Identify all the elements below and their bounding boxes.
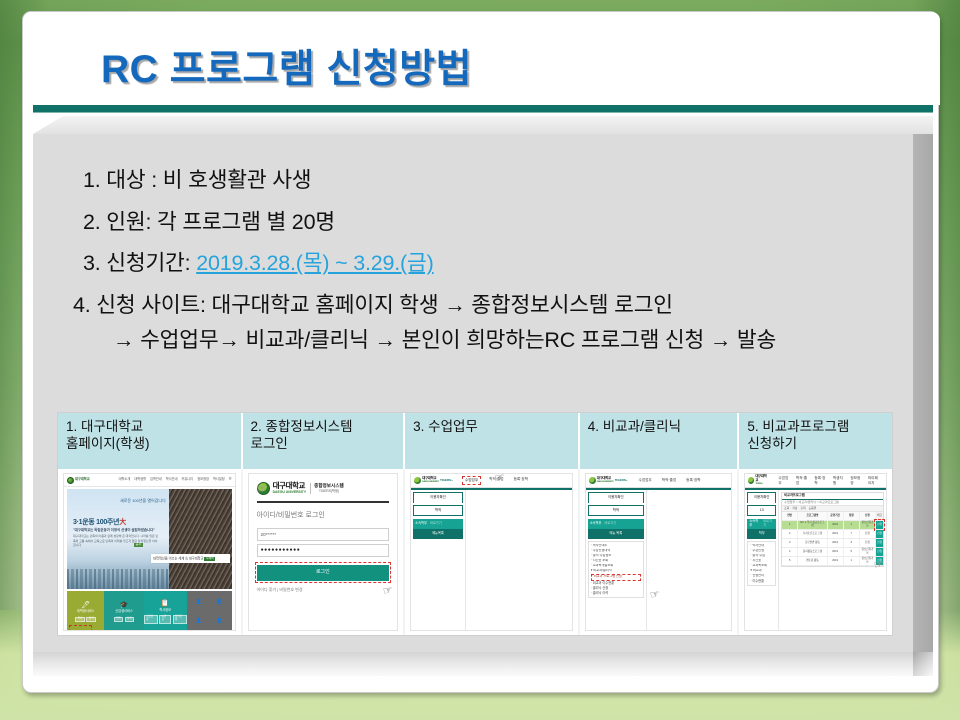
step-cell-class-tasks: 대구대학교 DAEGU UNIVERSITY TIGERS+ 수업업무 학적·졸…: [405, 469, 580, 635]
tree-item-program-apply[interactable]: · 비교과 프로그램 신청: [591, 574, 641, 581]
step-header-2: 2. 종합정보시스템 로그인: [243, 413, 406, 469]
university-emblem-icon: [748, 477, 754, 484]
cell-start: 2019: [828, 521, 844, 529]
login-password-value: ●●●●●●●●●●●: [261, 548, 301, 554]
portal-frame: 대구대학교 DAEGU UNIVERSITY TIGERS+ 수업업무 학적·졸…: [411, 474, 572, 630]
hero-subtitle: "대구대학교는 독립운동가 이영식 선생이 설립하였습니다": [73, 529, 159, 533]
hand-cursor-icon-secondary: ☞: [383, 585, 394, 597]
portal-frame: 대구대학교 DAEGU UNIVERSITY TIGERS+ 수업업무 학적·졸…: [586, 474, 732, 630]
login-university-name: 대구대학교 DAEGU UNIVERSITY: [273, 482, 307, 495]
login-id-value: 20******: [261, 532, 277, 537]
tile-chip[interactable]: 수강신청: [144, 615, 158, 624]
content-panel-wrapper: 1. 대상 : 비 호생활관 사생 2. 인원: 각 프로그램 별 20명 3.…: [33, 116, 933, 684]
portal-tab[interactable]: 등록·장학: [812, 475, 827, 485]
portal-sidebar: 이용자확인 학적 소속학부 바로가기 메뉴 목록: [586, 490, 647, 630]
toolbar-button[interactable]: 조회: [784, 507, 789, 510]
sidebar-menu-list-button[interactable]: 메뉴목록: [413, 529, 463, 539]
step-header-5: 5. 비교과프로그램 신청하기: [739, 413, 892, 469]
nav-item[interactable]: 커뮤니티: [182, 478, 194, 482]
steps-header-row: 1. 대구대학교 홈페이지(학생) 2. 종합정보시스템 로그인 3. 수업업무…: [58, 413, 892, 469]
hero-notice-tag: 공지: [134, 543, 143, 547]
cell-start: 2019: [828, 539, 844, 547]
portal-tab[interactable]: 정보광장: [848, 475, 863, 485]
hero-more-button[interactable]: 자세히: [204, 557, 215, 561]
quicklink-tile-4[interactable]: 👤 👤 👤 👤: [187, 591, 232, 631]
quicklink-tile-2[interactable]: 🎓 신입생서비스 입학 등록: [104, 591, 143, 631]
bullet-item-1: 1. 대상 : 비 호생활관 사생: [51, 170, 907, 192]
portal-content-area: [647, 490, 731, 630]
portal-tab-registration[interactable]: 등록·장학: [684, 477, 702, 483]
hero-text-block: 3·1운동 100주년大 "대구대학교는 독립운동가 이영식 선생이 설립하였습…: [73, 519, 159, 548]
slide-canvas: RC 프로그램 신청방법 1. 대상 : 비 호생활관 사생 2. 인원: 각 …: [0, 0, 960, 720]
portal-tab[interactable]: 학적·졸업: [794, 475, 809, 485]
title-area: RC 프로그램 신청방법: [23, 12, 940, 105]
bullet-list: 1. 대상 : 비 호생활관 사생 2. 인원: 각 프로그램 별 20명 3.…: [51, 170, 907, 352]
row-apply-button[interactable]: 신청: [876, 521, 883, 529]
sidebar-card-user[interactable]: 이용자확인: [588, 492, 644, 503]
tile-label: 신입생서비스: [115, 610, 133, 614]
step-cell-apply: 대구대학교 TIGERS+ 수업업무 학적·졸업 등록·장학: [739, 469, 892, 635]
portal-sidebar: 이용자확인 13 소속학부 바로가기 학부: [745, 490, 779, 630]
sidebar-card-user[interactable]: 이용자확인: [747, 492, 776, 503]
step-header-1: 1. 대구대학교 홈페이지(학생): [58, 413, 243, 469]
clipboard-icon: 📋: [161, 600, 170, 607]
portal-tab-registration[interactable]: 등록·장학: [512, 476, 530, 484]
step-cell-extracurricular: 대구대학교 DAEGU UNIVERSITY TIGERS+ 수업업무 학적·졸…: [580, 469, 740, 635]
content-toolbar: 조회 저장 출력 도움말: [782, 505, 883, 512]
cell-name: 글로벌존 활동: [798, 539, 827, 547]
screenshot-login-page: 대구대학교 DAEGU UNIVERSITY 종합정보시스템 TIGERS(학생…: [248, 473, 399, 631]
sidebar-dept-bar: 소속학부 바로가기: [588, 519, 644, 529]
tile-chip[interactable]: 시간표: [159, 615, 171, 624]
highlight-box-login-button: 로그인: [255, 562, 392, 583]
portal-brand-tag: TIGERS+: [440, 479, 453, 482]
data-table-header: 연번 프로그램명 운영기간 정원 신청 비고: [782, 512, 883, 521]
hand-cursor-icon: ☞: [873, 559, 884, 571]
tile-chip[interactable]: 입학: [114, 617, 124, 623]
col-header-period: 운영기간: [828, 512, 844, 520]
portal-frame: 대구대학교 TIGERS+ 수업업무 학적·졸업 등록·장학: [745, 474, 886, 630]
hand-cursor-icon: ☞: [256, 483, 267, 495]
tile-chips: 입학 등록: [114, 617, 135, 623]
row-apply-button[interactable]: 신청: [876, 530, 883, 538]
cell-no: 2: [782, 530, 798, 538]
cell-start: 2019: [828, 548, 844, 556]
hero-crowd-photo: [169, 489, 232, 589]
hero-korean-script: 새로운 100년을 열어갑니다: [120, 498, 166, 503]
sidebar-menu-list-button[interactable]: 메뉴 목록: [588, 529, 644, 539]
nav-item[interactable]: 입학안내: [150, 478, 162, 482]
login-password-input[interactable]: ●●●●●●●●●●●: [257, 544, 390, 557]
cell-cap: 7: [844, 530, 860, 538]
portal-tab-class-tasks[interactable]: 수업업무: [637, 477, 654, 483]
panel-corner-chamfer: [33, 116, 63, 134]
bullet-item-4: 4. 신청 사이트: 대구대학교 홈페이지 학생 → 종합정보시스템 로그인: [51, 295, 907, 317]
tile-label: 재학생서비스: [77, 610, 95, 614]
cell-start: 2019: [828, 530, 844, 538]
university-emblem-icon: [589, 477, 596, 484]
content-panel: 1. 대상 : 비 호생활관 사생 2. 인원: 각 프로그램 별 20명 3.…: [33, 134, 913, 652]
title-divider: [33, 105, 933, 113]
screenshot-program-apply-table: 대구대학교 TIGERS+ 수업업무 학적·졸업 등록·장학: [744, 473, 887, 631]
hand-cursor-icon: ☞: [494, 473, 505, 485]
login-system-sub: TIGERS(학생): [314, 489, 344, 493]
cell-name: RC 1 학기 정규프로그램: [798, 521, 827, 529]
table-row[interactable]: 1 RC 1 학기 정규프로그램 2019 1 정보신청가능 신청: [782, 521, 883, 530]
hero-mark: 大: [119, 519, 126, 526]
steps-table: 1. 대구대학교 홈페이지(학생) 2. 종합정보시스템 로그인 3. 수업업무…: [57, 412, 893, 636]
cell-state: 신청: [860, 539, 876, 547]
portal-brand: 대구대학교 TIGERS+: [748, 475, 767, 485]
cell-no: 5: [782, 557, 798, 565]
login-helper-links[interactable]: 아이디 찾기 | 비밀번호 변경: [257, 588, 303, 593]
screenshot-portal-tabs: 대구대학교 DAEGU UNIVERSITY TIGERS+ 수업업무 학적·졸…: [410, 473, 573, 631]
login-heading: 아이디/비밀번호 로그인: [257, 512, 325, 520]
content-tab-title: 비교과프로그램 수업업무 > 비교과/클리닉 > 비교과프로그램 조회 저장 출…: [781, 492, 884, 567]
hero-cityscape-graphic: [67, 569, 169, 589]
highlight-box-chips: [69, 625, 92, 632]
col-header-apply: 신청: [860, 512, 876, 520]
portal-tab[interactable]: 마이페이지: [866, 475, 883, 485]
cell-no: 1: [782, 521, 798, 529]
sidebar-card-count[interactable]: 13: [747, 505, 776, 516]
panel-top-bevel: [33, 116, 933, 134]
step-header-4: 4. 비교과/클리닉: [580, 413, 740, 469]
university-emblem-icon: [67, 477, 74, 484]
slide-card: RC 프로그램 신청방법 1. 대상 : 비 호생활관 사생 2. 인원: 각 …: [22, 11, 939, 693]
row-apply-button[interactable]: 신청: [876, 548, 883, 556]
tile-label: 학사정보: [159, 609, 171, 613]
tile-icon-grid: 👤 👤 👤 👤: [187, 591, 232, 631]
hero-body-text: 대구대학교는 민족의 아픔과 함께 성장해 온 대학입니다. 나라를 잃은 민족…: [73, 534, 159, 547]
cell-state: 정보신청가능: [860, 521, 876, 529]
cell-name: 봉사활동프로그램: [798, 548, 827, 556]
homepage-navbar: 대구대학교 대학소개 대학생활 입학안내 학사안내 커뮤니티 정보광장: [64, 474, 235, 487]
panel-right-shadow: [913, 134, 933, 652]
portal-tab[interactable]: 학생지원: [831, 475, 846, 485]
toolbar-button[interactable]: 저장: [792, 507, 797, 510]
table-row[interactable]: 4 봉사활동프로그램 2019 5 정보신청가능 신청: [782, 548, 883, 557]
graduate-icon: 🎓: [120, 602, 129, 609]
chat-icon[interactable]: 👤: [209, 612, 229, 631]
portal-tab-academics[interactable]: 학적·졸업: [660, 477, 678, 483]
portal-sidebar: 이용자확인 학적 소속학부 바로가기 메뉴목록: [411, 490, 466, 630]
step-cell-login: 대구대학교 DAEGU UNIVERSITY 종합정보시스템 TIGERS(학생…: [243, 469, 406, 635]
portal-brand-tag: TIGERS+: [615, 479, 628, 482]
homepage-nav-items: 대학소개 대학생활 입학안내 학사안내 커뮤니티 정보광장 학사일정 ☰: [119, 478, 232, 482]
cell-cap: 1: [844, 521, 860, 529]
portal-content-area: [466, 490, 572, 630]
sidebar-menu-tree: · 학사안내도 · 수강신청내역 · 출석·수업정보 · 시간표 조회 · 교과…: [588, 541, 644, 598]
cell-start: 2019: [828, 557, 844, 565]
sidebar-dept-bar: 소속학부 바로가기: [413, 519, 463, 529]
book-icon[interactable]: 👤: [209, 593, 229, 612]
sidebar-menu-tree: · 학사안내 · 수강신청 · 출석·수업 · 시간표 · 교과목조회 ▾ 비교…: [747, 541, 776, 586]
col-header-no: 연번: [782, 512, 798, 520]
portal-main: 이용자확인 학적 소속학부 바로가기 메뉴 목록: [586, 490, 732, 630]
screenshot-university-homepage: 대구대학교 대학소개 대학생활 입학안내 학사안내 커뮤니티 정보광장: [63, 473, 236, 631]
login-id-input[interactable]: 20******: [257, 528, 390, 541]
sidebar-card-academic[interactable]: 학적: [413, 505, 463, 516]
login-logo-block: 대구대학교 DAEGU UNIVERSITY 종합정보시스템 TIGERS(학생…: [257, 482, 390, 495]
col-header-capacity: 정원: [844, 512, 860, 520]
cell-cap: 1: [844, 557, 860, 565]
nav-item[interactable]: 학사안내: [166, 478, 178, 482]
cell-state: 정보신청가능: [860, 548, 876, 556]
tile-chip[interactable]: 장학: [86, 617, 96, 623]
sidebar-card-user[interactable]: 이용자확인: [413, 492, 463, 503]
pen-icon: 🖊: [81, 602, 90, 609]
portal-topbar: 대구대학교 DAEGU UNIVERSITY TIGERS+ 수업업무 학적·졸…: [411, 474, 572, 488]
briefcase-icon[interactable]: 👤: [189, 612, 209, 631]
hamburger-icon[interactable]: ☰: [229, 478, 232, 482]
cell-name: 멘토링 활동: [798, 557, 827, 565]
quicklink-tile-1[interactable]: 🖊 재학생서비스 학사 장학: [67, 591, 104, 631]
cell-no: 3: [782, 539, 798, 547]
table-row[interactable]: 5 멘토링 활동 2019 1 정보신청가능 신청: [782, 557, 883, 566]
university-emblem-icon: [414, 477, 421, 484]
step-header-3: 3. 수업업무: [405, 413, 580, 469]
portal-main: 이용자확인 학적 소속학부 바로가기 메뉴목록: [411, 490, 572, 630]
page-title: RC 프로그램 신청방법: [101, 38, 472, 94]
table-row[interactable]: 2 독서토론프로그램 2019 7 신청 신청: [782, 530, 883, 539]
login-university-name-en: DAEGU UNIVERSITY: [273, 491, 307, 495]
portal-tab[interactable]: 수업업무: [776, 475, 791, 485]
active-content-tab[interactable]: 비교과프로그램: [782, 493, 883, 500]
toolbar-button[interactable]: 출력: [800, 507, 805, 510]
bullet-item-2: 2. 인원: 각 프로그램 별 20명: [51, 212, 907, 234]
hand-cursor-icon: ☞: [649, 589, 660, 601]
tile-chip[interactable]: 학사: [75, 617, 85, 623]
bullet-3-label: 3. 신청기간:: [83, 251, 190, 275]
login-divider: [257, 501, 390, 503]
col-header-action: 비고: [876, 512, 883, 520]
tree-item[interactable]: · 이수현황: [750, 579, 773, 584]
cell-cap: 3: [844, 539, 860, 547]
portal-topbar: 대구대학교 TIGERS+ 수업업무 학적·졸업 등록·장학: [745, 474, 886, 488]
hero-headline: 3·1운동 100주년大: [73, 519, 159, 527]
application-period-link[interactable]: 2019.3.28.(목) ~ 3.29.(금): [196, 251, 433, 275]
tile-chips: 학사 장학: [75, 617, 96, 623]
login-submit-button[interactable]: 로그인: [257, 565, 389, 581]
tile-chip[interactable]: 성적조회: [173, 615, 187, 624]
tile-chips: 수강신청 시간표 성적조회: [144, 615, 187, 624]
homepage-logo: 대구대학교: [67, 477, 90, 484]
screenshot-portal-menu-tree: 대구대학교 DAEGU UNIVERSITY TIGERS+ 수업업무 학적·졸…: [585, 473, 733, 631]
portal-brand: 대구대학교 DAEGU UNIVERSITY TIGERS+: [589, 477, 628, 484]
col-header-name: 프로그램명: [798, 512, 827, 520]
login-system-name: 종합정보시스템 TIGERS(학생): [310, 483, 344, 494]
portal-tab-class-tasks[interactable]: 수업업무: [462, 476, 481, 484]
tree-item[interactable]: · 클리닉 이력: [591, 591, 641, 596]
nav-item[interactable]: 학사일정: [213, 478, 225, 482]
nav-item[interactable]: 대학생활: [134, 478, 146, 482]
table-row[interactable]: 3 글로벌존 활동 2019 3 신청 신청: [782, 539, 883, 548]
cell-cap: 5: [844, 548, 860, 556]
steps-screenshot-row: 대구대학교 대학소개 대학생활 입학안내 학사안내 커뮤니티 정보광장: [58, 469, 892, 635]
portal-topbar: 대구대학교 DAEGU UNIVERSITY TIGERS+ 수업업무 학적·졸…: [586, 474, 732, 488]
homepage-logo-text: 대구대학교: [75, 478, 90, 482]
homepage-hero-banner: 새로운 100년을 열어갑니다 3·1운동 100주년大 "대구대학교는 독립운…: [67, 489, 232, 589]
homepage-quicklink-tiles: 🖊 재학생서비스 학사 장학: [67, 591, 232, 631]
sidebar-menu-list-button[interactable]: 학부: [747, 529, 776, 539]
nav-item[interactable]: 대학소개: [119, 478, 131, 482]
portal-brand: 대구대학교 DAEGU UNIVERSITY TIGERS+: [414, 477, 453, 484]
step-cell-homepage: 대구대학교 대학소개 대학생활 입학안내 학사안내 커뮤니티 정보광장: [58, 469, 243, 635]
toolbar-button[interactable]: 도움말: [809, 507, 817, 510]
sidebar-card-academic[interactable]: 학적: [588, 505, 644, 516]
cell-name: 독서토론프로그램: [798, 530, 827, 538]
hero-caption-card: 대학혁신을 이끄는 세계 속 대구대학교 자세히: [151, 554, 230, 563]
portal-tabs: 수업업무 학적·졸업 등록·장학: [637, 477, 703, 483]
row-apply-button[interactable]: 신청: [876, 539, 883, 547]
bullet-item-5: → 수업업무→ 비교과/클리닉 → 본인이 희망하는RC 프로그램 신청 → 발…: [51, 330, 907, 352]
cell-no: 4: [782, 548, 798, 556]
portal-content-area: 비교과프로그램 수업업무 > 비교과/클리닉 > 비교과프로그램 조회 저장 출…: [779, 490, 886, 630]
cell-state: 신청: [860, 530, 876, 538]
portal-main: 이용자확인 13 소속학부 바로가기 학부: [745, 490, 886, 630]
nav-item[interactable]: 정보광장: [197, 478, 209, 482]
portal-tabs: 수업업무 학적·졸업 등록·장학 학생지원 정보광장 마이페이지: [776, 475, 883, 485]
bullet-item-3: 3. 신청기간: 2019.3.28.(목) ~ 3.29.(금): [51, 253, 907, 275]
quicklink-tile-3[interactable]: 📋 학사정보 수강신청 시간표 성적조회: [144, 591, 187, 631]
sidebar-dept-bar: 소속학부 바로가기: [747, 519, 776, 529]
person-icon[interactable]: 👤: [189, 593, 209, 612]
panel-bottom-shadow: [33, 652, 933, 676]
tile-chip[interactable]: 등록: [125, 617, 135, 623]
